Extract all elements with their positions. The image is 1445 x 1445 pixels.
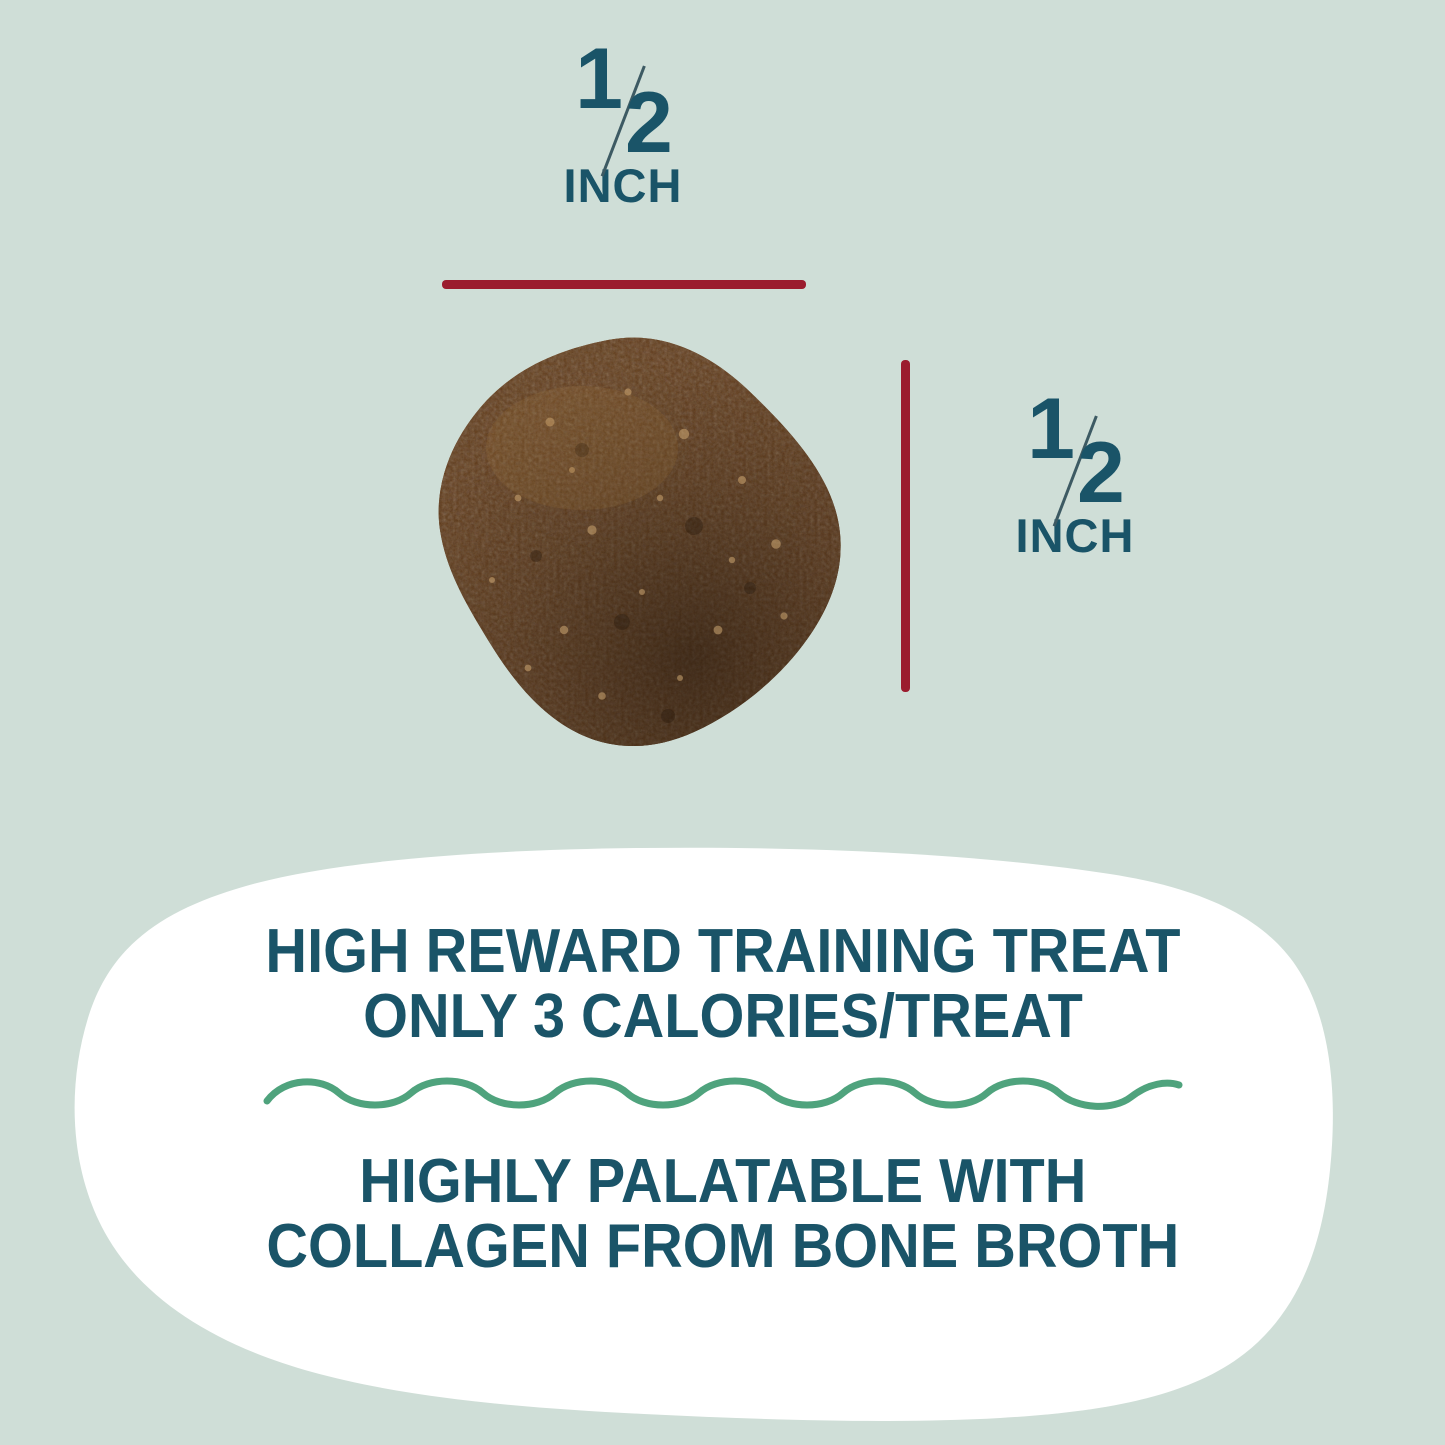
width-ruler-line — [442, 280, 806, 289]
height-unit-label: INCH — [930, 508, 1220, 563]
fraction-denominator: 2 — [625, 80, 671, 166]
width-measurement-label: 12 INCH — [443, 58, 803, 213]
feature-callout-card — [0, 820, 1445, 1445]
fraction-denominator: 2 — [1077, 430, 1123, 516]
product-infographic: 12 INCH — [0, 0, 1445, 1445]
height-measurement-label: 12 INCH — [930, 408, 1220, 563]
fraction-one-half-vertical: 12 — [1027, 408, 1123, 494]
fraction-numerator: 1 — [1027, 386, 1073, 472]
fraction-numerator: 1 — [575, 36, 621, 122]
treat-product-image — [432, 330, 852, 752]
height-ruler-line — [901, 360, 910, 692]
fraction-one-half-horizontal: 12 — [575, 58, 671, 144]
width-unit-label: INCH — [443, 158, 803, 213]
